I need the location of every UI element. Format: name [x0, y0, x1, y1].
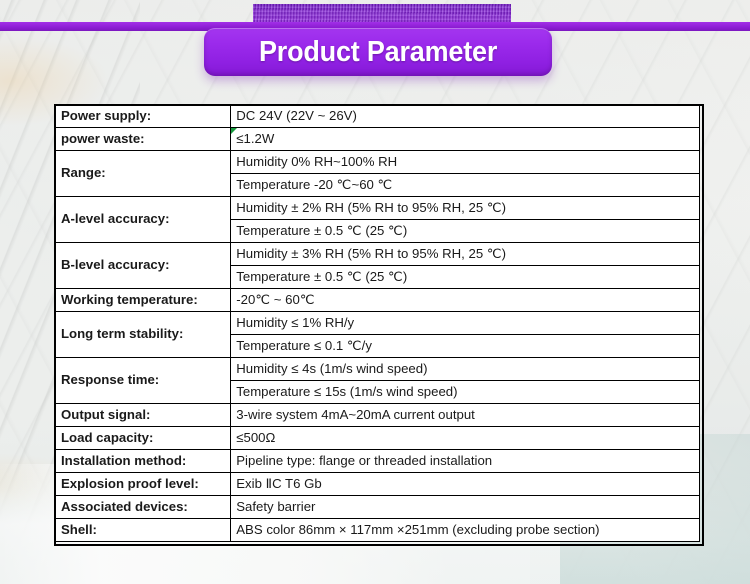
row-value: Temperature ≤ 0.1 ℃/y [231, 335, 700, 358]
row-label: Long term stability: [55, 312, 231, 358]
table-row: Shell:ABS color 86mm × 117mm ×251mm (exc… [55, 519, 700, 542]
table-row: Output signal:3-wire system 4mA~20mA cur… [55, 404, 700, 427]
row-value: Pipeline type: flange or threaded instal… [231, 450, 700, 473]
banner-plate: Product Parameter [204, 28, 552, 76]
row-label: Associated devices: [55, 496, 231, 519]
row-value: Temperature ± 0.5 ℃ (25 ℃) [231, 220, 700, 243]
product-parameter-table: Power supply:DC 24V (22V ~ 26V)power was… [54, 104, 700, 542]
row-value: Temperature ≤ 15s (1m/s wind speed) [231, 381, 700, 404]
row-label: Explosion proof level: [55, 473, 231, 496]
table-row: Power supply:DC 24V (22V ~ 26V) [55, 105, 700, 128]
table-row: Installation method:Pipeline type: flang… [55, 450, 700, 473]
page-title: Product Parameter [259, 36, 497, 69]
row-label: A-level accuracy: [55, 197, 231, 243]
table-row: A-level accuracy:Humidity ± 2% RH (5% RH… [55, 197, 700, 220]
row-value: ≤1.2W [231, 128, 700, 151]
spec-table-container: Power supply:DC 24V (22V ~ 26V)power was… [54, 104, 700, 542]
table-row: Working temperature:-20℃ ~ 60℃ [55, 289, 700, 312]
row-label: Working temperature: [55, 289, 231, 312]
row-label: Response time: [55, 358, 231, 404]
table-row: power waste: ≤1.2W [55, 128, 700, 151]
table-row: Range:Humidity 0% RH~100% RH [55, 151, 700, 174]
table-row: Load capacity:≤500Ω [55, 427, 700, 450]
row-value: Humidity 0% RH~100% RH [231, 151, 700, 174]
row-value: ≤500Ω [231, 427, 700, 450]
table-row: Long term stability:Humidity ≤ 1% RH/y [55, 312, 700, 335]
table-row: B-level accuracy:Humidity ± 3% RH (5% RH… [55, 243, 700, 266]
row-value: Humidity ± 2% RH (5% RH to 95% RH, 25 ℃) [231, 197, 700, 220]
row-label: Power supply: [55, 105, 231, 128]
row-value: Temperature ± 0.5 ℃ (25 ℃) [231, 266, 700, 289]
green-triangle-error-flag-icon [231, 128, 237, 134]
table-row: Associated devices:Safety barrier [55, 496, 700, 519]
row-label: power waste: [55, 128, 231, 151]
row-value: Exib ⅡC T6 Gb [231, 473, 700, 496]
row-value: ABS color 86mm × 117mm ×251mm (excluding… [231, 519, 700, 542]
row-label: Load capacity: [55, 427, 231, 450]
page-header: Product Parameter [0, 0, 750, 92]
row-label: Installation method: [55, 450, 231, 473]
row-value: 3-wire system 4mA~20mA current output [231, 404, 700, 427]
table-row: Response time:Humidity ≤ 4s (1m/s wind s… [55, 358, 700, 381]
row-value: DC 24V (22V ~ 26V) [231, 105, 700, 128]
row-label: Output signal: [55, 404, 231, 427]
row-value: -20℃ ~ 60℃ [231, 289, 700, 312]
row-label: Range: [55, 151, 231, 197]
table-row: Explosion proof level:Exib ⅡC T6 Gb [55, 473, 700, 496]
row-value: Humidity ≤ 1% RH/y [231, 312, 700, 335]
row-value: Safety barrier [231, 496, 700, 519]
row-label: Shell: [55, 519, 231, 542]
row-value: Temperature -20 ℃~60 ℃ [231, 174, 700, 197]
row-value: Humidity ≤ 4s (1m/s wind speed) [231, 358, 700, 381]
row-value: Humidity ± 3% RH (5% RH to 95% RH, 25 ℃) [231, 243, 700, 266]
row-label: B-level accuracy: [55, 243, 231, 289]
